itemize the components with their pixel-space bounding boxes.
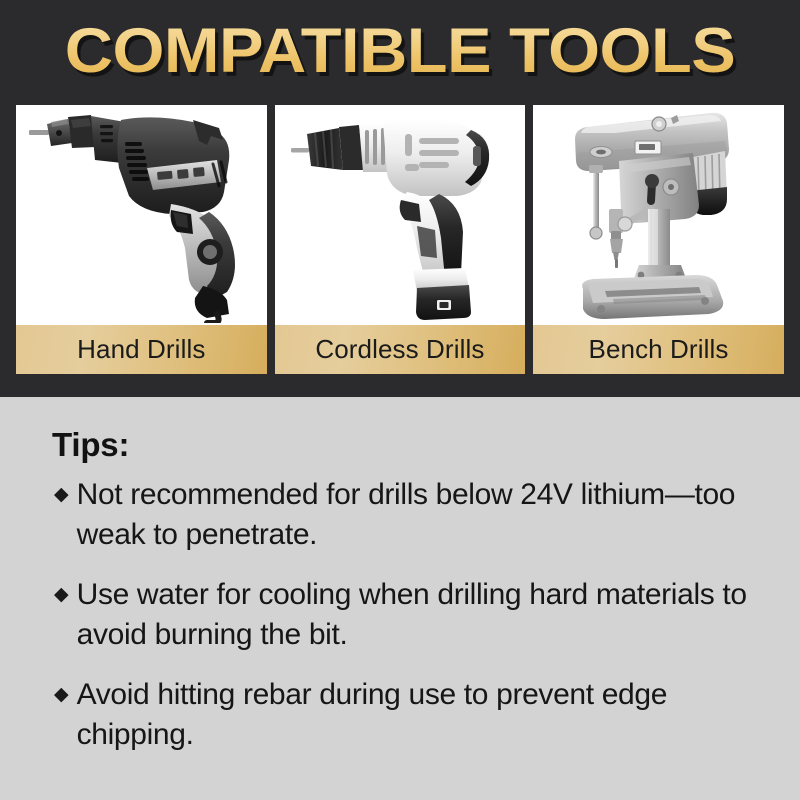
cordless-drill-image — [275, 105, 526, 325]
tip-item: ◆ Avoid hitting rebar during use to prev… — [52, 675, 760, 755]
card-caption-bench-drills: Bench Drills — [533, 325, 784, 374]
tip-text: Use water for cooling when drilling hard… — [77, 575, 749, 655]
card-caption-cordless-drills: Cordless Drills — [275, 325, 526, 374]
diamond-bullet-icon: ◆ — [54, 475, 69, 515]
tool-card-cordless-drills[interactable]: Cordless Drills — [275, 105, 526, 374]
tips-heading: Tips: — [52, 426, 760, 464]
tips-section: Tips: ◆ Not recommended for drills below… — [0, 397, 800, 800]
page-title: COMPATIBLE TOOLS — [0, 14, 800, 88]
tool-card-hand-drills[interactable]: Hand Drills — [16, 105, 267, 374]
hand-drill-image — [16, 105, 267, 325]
cordless-drill-icon — [285, 108, 515, 323]
diamond-bullet-icon: ◆ — [54, 575, 69, 615]
card-caption-hand-drills: Hand Drills — [16, 325, 267, 374]
tip-item: ◆ Use water for cooling when drilling ha… — [52, 575, 760, 655]
tool-card-bench-drills[interactable]: Bench Drills — [533, 105, 784, 374]
tip-text: Avoid hitting rebar during use to preven… — [77, 675, 749, 755]
tip-text: Not recommended for drills below 24V lit… — [77, 475, 749, 555]
tip-item: ◆ Not recommended for drills below 24V l… — [52, 475, 760, 555]
diamond-bullet-icon: ◆ — [54, 675, 69, 715]
compatible-tools-infographic: COMPATIBLE TOOLS — [0, 0, 800, 800]
tool-card-row: Hand Drills — [16, 105, 784, 374]
bench-drill-image — [533, 105, 784, 325]
bench-drill-press-icon — [553, 105, 763, 325]
corded-hand-drill-icon — [21, 108, 261, 323]
